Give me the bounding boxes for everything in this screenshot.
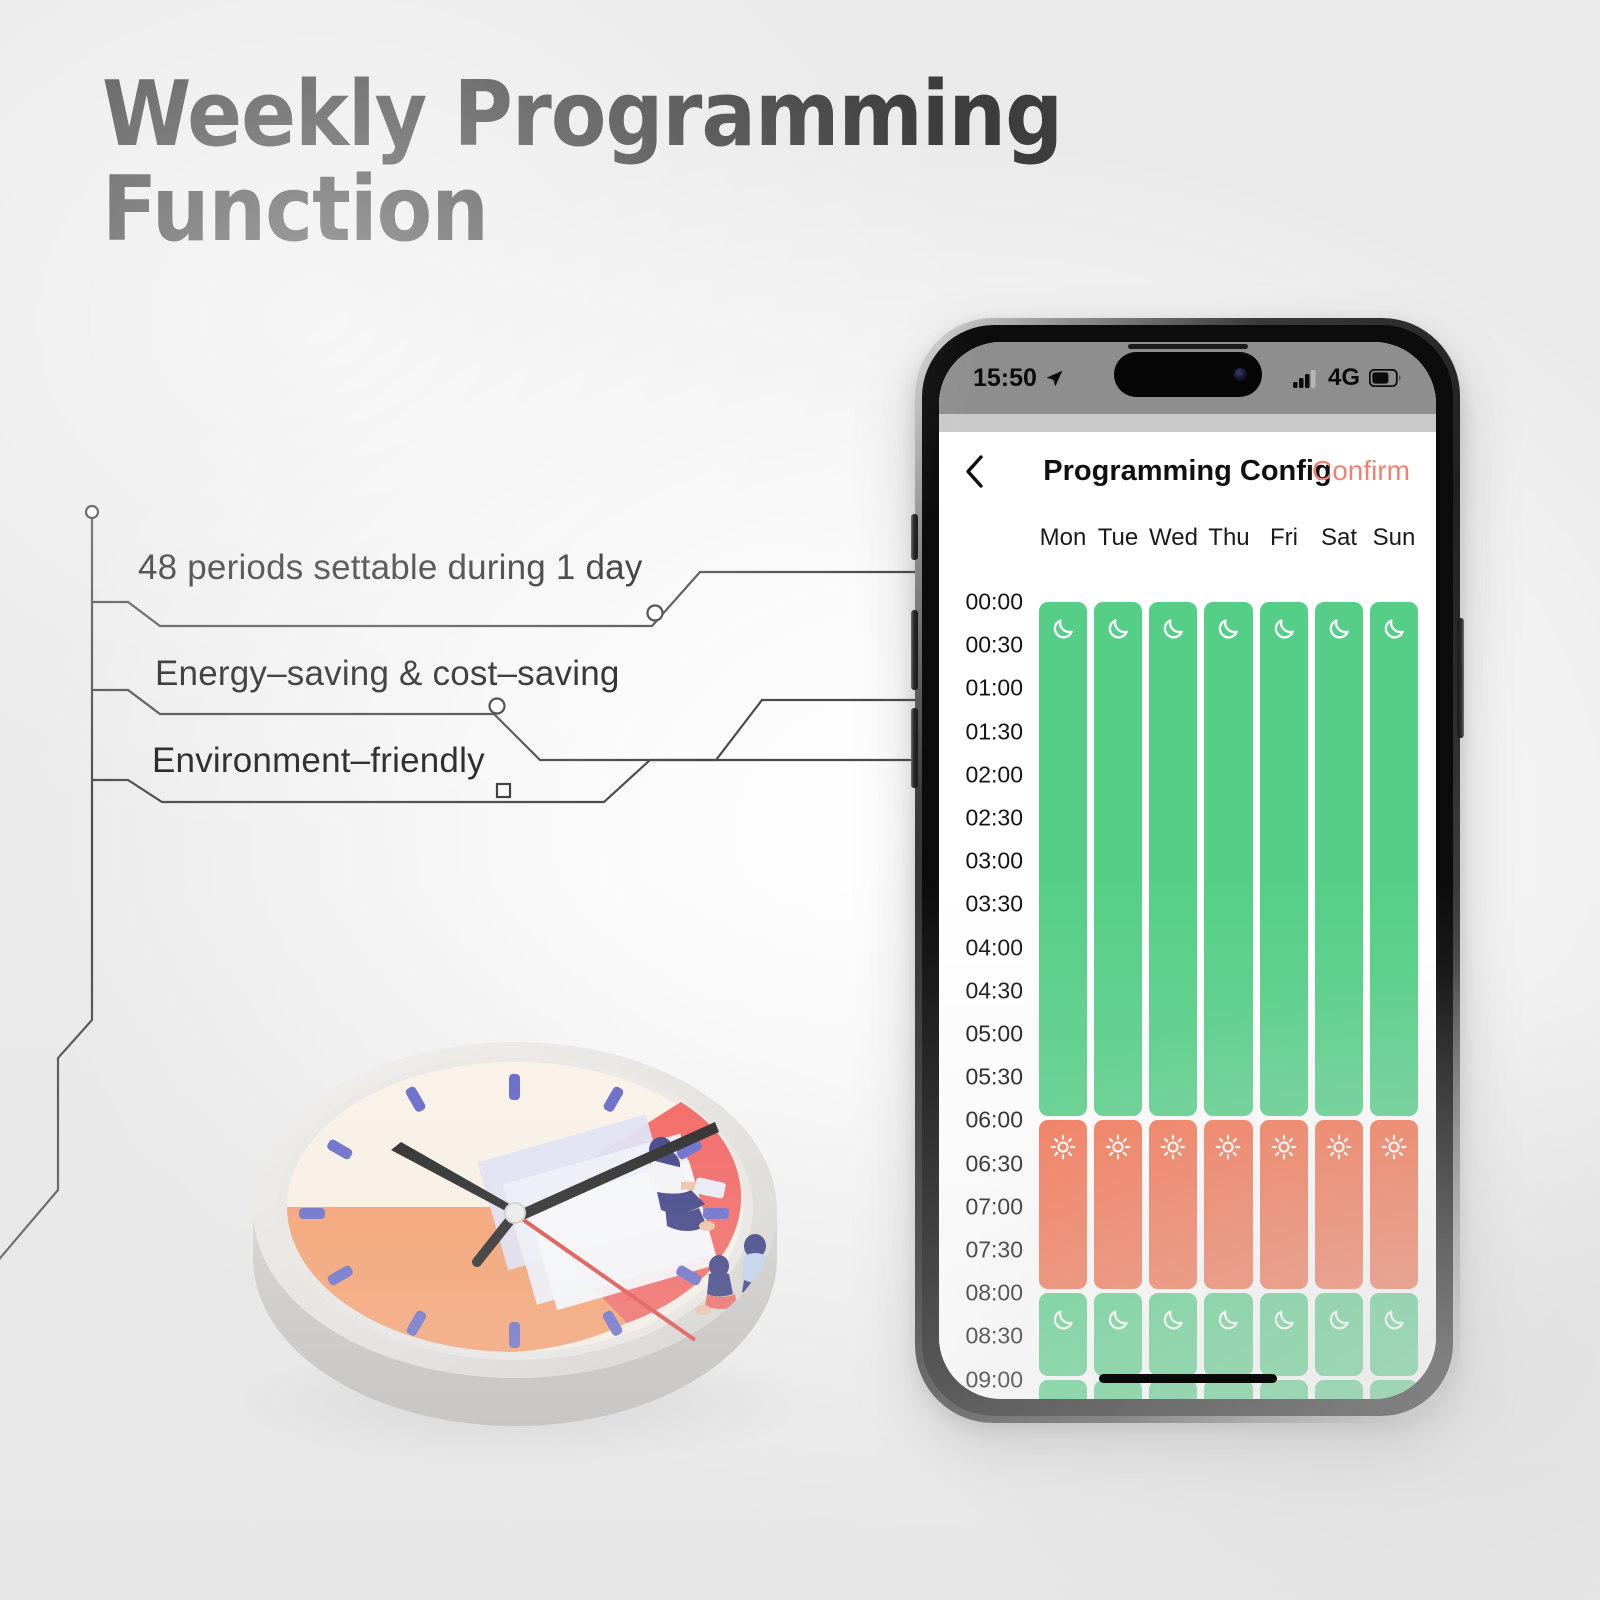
location-arrow-icon — [1045, 369, 1064, 388]
day-header-sat: Sat — [1315, 524, 1363, 552]
home-indicator[interactable] — [1099, 1374, 1277, 1383]
time-label-0730: 07:30 — [965, 1237, 1023, 1264]
confirm-button[interactable]: Confirm — [1312, 455, 1410, 487]
schedule-grid: 00:0000:3001:0001:3002:0002:3003:0003:30… — [939, 584, 1436, 1399]
app-navbar: Programming Config Confirm — [939, 432, 1436, 510]
schedule-block-thu-night[interactable] — [1204, 602, 1252, 1116]
time-label-0830: 08:30 — [965, 1323, 1023, 1350]
feature-label-3: Environment–friendly — [152, 741, 485, 781]
schedule-block-tue-day[interactable] — [1094, 1120, 1142, 1289]
schedule-block-sat-continued[interactable] — [1315, 1380, 1363, 1399]
schedule-block-wed-day[interactable] — [1149, 1120, 1197, 1289]
time-label-0600: 06:00 — [965, 1107, 1023, 1134]
schedule-column-sun[interactable] — [1370, 584, 1418, 1399]
schedule-block-sat-night[interactable] — [1315, 1293, 1363, 1375]
day-header-thu: Thu — [1205, 524, 1253, 552]
phone-power-button[interactable] — [1457, 618, 1464, 738]
feature-label-2: Energy–saving & cost–saving — [155, 654, 620, 694]
phone-bezel: 15:50 — [922, 325, 1453, 1416]
time-label-0030: 00:30 — [965, 632, 1023, 659]
schedule-block-sun-night[interactable] — [1370, 602, 1418, 1116]
battery-icon — [1369, 369, 1402, 387]
time-label-0700: 07:00 — [965, 1193, 1023, 1220]
phone-action-button[interactable] — [911, 514, 918, 560]
poster-canvas: Weekly Programming Function 48 periods s… — [0, 0, 1600, 1600]
schedule-block-mon-continued[interactable] — [1039, 1380, 1087, 1399]
wall-clock-illustration — [195, 1010, 835, 1470]
time-label-0100: 01:00 — [965, 675, 1023, 702]
day-header-mon: Mon — [1039, 524, 1087, 552]
day-header-sun: Sun — [1370, 524, 1418, 552]
phone-volume-down[interactable] — [911, 708, 918, 788]
day-header-wed: Wed — [1149, 524, 1198, 552]
time-label-0000: 00:00 — [965, 589, 1023, 616]
time-label-0430: 04:30 — [965, 977, 1023, 1004]
app-content: Programming Config Confirm MonTueWedThuF… — [939, 432, 1436, 1399]
schedule-columns[interactable] — [1039, 584, 1418, 1399]
schedule-block-mon-day[interactable] — [1039, 1120, 1087, 1289]
signal-bars-icon — [1293, 369, 1319, 388]
status-bar-underlay — [939, 414, 1436, 432]
phone-mockup: 15:50 — [915, 318, 1460, 1423]
time-label-0900: 09:00 — [965, 1366, 1023, 1393]
time-label-0800: 08:00 — [965, 1280, 1023, 1307]
time-label-0500: 05:00 — [965, 1021, 1023, 1048]
time-label-0230: 02:30 — [965, 805, 1023, 832]
schedule-block-sat-day[interactable] — [1315, 1120, 1363, 1289]
schedule-block-sat-night[interactable] — [1315, 602, 1363, 1116]
schedule-block-fri-night[interactable] — [1260, 602, 1308, 1116]
schedule-block-wed-night[interactable] — [1149, 602, 1197, 1116]
feature-label-1: 48 periods settable during 1 day — [138, 548, 643, 588]
earpiece-speaker — [1128, 344, 1248, 349]
network-type-label: 4G — [1328, 364, 1360, 392]
phone-volume-up[interactable] — [911, 610, 918, 690]
phone-screen: 15:50 — [939, 342, 1436, 1399]
status-bar-indicators: 4G — [1293, 364, 1402, 392]
schedule-block-sun-continued[interactable] — [1370, 1380, 1418, 1399]
back-button[interactable] — [965, 455, 1005, 488]
status-bar-time-group: 15:50 — [973, 364, 1064, 393]
front-camera-icon — [1234, 368, 1247, 381]
dynamic-island — [1114, 352, 1262, 397]
time-gutter-spacer — [957, 524, 1039, 552]
schedule-block-wed-night[interactable] — [1149, 1293, 1197, 1375]
schedule-block-mon-night[interactable] — [1039, 602, 1087, 1116]
schedule-block-tue-night[interactable] — [1094, 1293, 1142, 1375]
schedule-block-sun-day[interactable] — [1370, 1120, 1418, 1289]
status-bar-time: 15:50 — [973, 364, 1037, 393]
schedule-block-tue-night[interactable] — [1094, 602, 1142, 1116]
schedule-column-fri[interactable] — [1260, 584, 1308, 1399]
time-label-0630: 06:30 — [965, 1150, 1023, 1177]
schedule-column-wed[interactable] — [1149, 584, 1197, 1399]
schedule-column-tue[interactable] — [1094, 584, 1142, 1399]
schedule-block-mon-night[interactable] — [1039, 1293, 1087, 1375]
day-header-fri: Fri — [1260, 524, 1308, 552]
time-label-0400: 04:00 — [965, 934, 1023, 961]
status-bar: 15:50 — [939, 342, 1436, 414]
schedule-column-mon[interactable] — [1039, 584, 1087, 1399]
chevron-left-icon — [965, 455, 984, 488]
time-label-0300: 03:00 — [965, 848, 1023, 875]
schedule-column-sat[interactable] — [1315, 584, 1363, 1399]
time-label-0530: 05:30 — [965, 1064, 1023, 1091]
day-header-row: MonTueWedThuFriSatSun — [939, 510, 1436, 562]
schedule-block-sun-night[interactable] — [1370, 1293, 1418, 1375]
schedule-block-thu-night[interactable] — [1204, 1293, 1252, 1375]
time-label-0330: 03:30 — [965, 891, 1023, 918]
schedule-block-fri-day[interactable] — [1260, 1120, 1308, 1289]
schedule-block-fri-night[interactable] — [1260, 1293, 1308, 1375]
schedule-block-thu-day[interactable] — [1204, 1120, 1252, 1289]
time-axis: 00:0000:3001:0001:3002:0002:3003:0003:30… — [957, 584, 1039, 1399]
time-label-0200: 02:00 — [965, 761, 1023, 788]
day-header-tue: Tue — [1094, 524, 1142, 552]
time-label-0130: 01:30 — [965, 718, 1023, 745]
schedule-column-thu[interactable] — [1204, 584, 1252, 1399]
